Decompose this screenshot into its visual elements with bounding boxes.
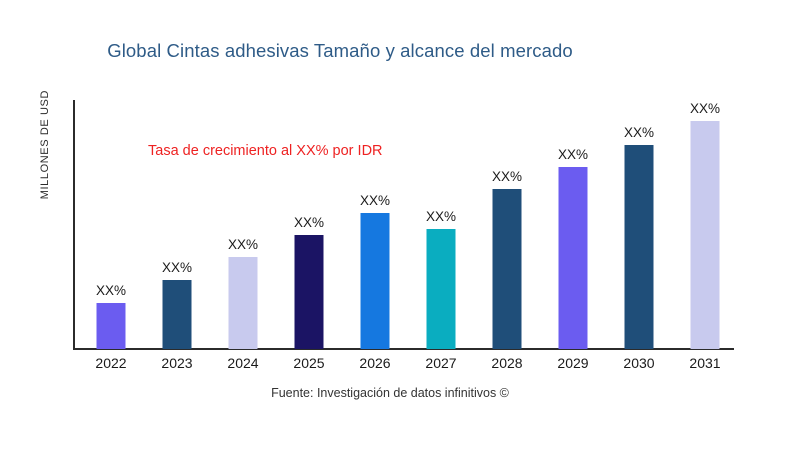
x-tick-2023: 2023 xyxy=(144,355,210,371)
y-axis-title-wrapper: MILLONES DE USD xyxy=(22,90,44,320)
bar-2028[interactable] xyxy=(493,189,522,349)
bar-group-2022[interactable]: XX% xyxy=(78,100,144,350)
chart-title: Global Cintas adhesivas Tamaño y alcance… xyxy=(0,40,680,62)
bar-group-2026[interactable]: XX% xyxy=(342,100,408,350)
x-tick-2027: 2027 xyxy=(408,355,474,371)
bar-value-label-2028: XX% xyxy=(492,169,522,184)
source-note: Fuente: Investigación de datos infinitiv… xyxy=(0,386,780,400)
bar-value-label-2024: XX% xyxy=(228,237,258,252)
bar-group-2024[interactable]: XX% xyxy=(210,100,276,350)
x-tick-2029: 2029 xyxy=(540,355,606,371)
bar-value-label-2025: XX% xyxy=(294,215,324,230)
bar-2030[interactable] xyxy=(625,145,654,349)
bar-2027[interactable] xyxy=(427,229,456,349)
bar-value-label-2022: XX% xyxy=(96,283,126,298)
bar-group-2023[interactable]: XX% xyxy=(144,100,210,350)
bar-group-2030[interactable]: XX% xyxy=(606,100,672,350)
bar-chart: Global Cintas adhesivas Tamaño y alcance… xyxy=(0,0,800,450)
bar-group-2025[interactable]: XX% xyxy=(276,100,342,350)
bar-2026[interactable] xyxy=(361,213,390,349)
bar-value-label-2031: XX% xyxy=(690,101,720,116)
bar-group-2031[interactable]: XX% xyxy=(672,100,738,350)
bar-value-label-2029: XX% xyxy=(558,147,588,162)
bar-value-label-2023: XX% xyxy=(162,260,192,275)
bar-2023[interactable] xyxy=(163,280,192,349)
bar-2024[interactable] xyxy=(229,257,258,349)
bar-group-2029[interactable]: XX% xyxy=(540,100,606,350)
x-tick-2022: 2022 xyxy=(78,355,144,371)
bar-value-label-2027: XX% xyxy=(426,209,456,224)
bar-value-label-2030: XX% xyxy=(624,125,654,140)
x-tick-2024: 2024 xyxy=(210,355,276,371)
x-tick-2025: 2025 xyxy=(276,355,342,371)
x-tick-2026: 2026 xyxy=(342,355,408,371)
bar-group-2027[interactable]: XX% xyxy=(408,100,474,350)
plot-area: XX%XX%XX%XX%XX%XX%XX%XX%XX%XX% xyxy=(73,100,800,350)
bars-layer: XX%XX%XX%XX%XX%XX%XX%XX%XX%XX% xyxy=(73,100,800,350)
y-axis-title: MILLONES DE USD xyxy=(39,90,51,199)
bar-2029[interactable] xyxy=(559,167,588,349)
bar-group-2028[interactable]: XX% xyxy=(474,100,540,350)
bar-2022[interactable] xyxy=(97,303,126,349)
growth-rate-annotation: Tasa de crecimiento al XX% por IDR xyxy=(148,143,383,159)
bar-2025[interactable] xyxy=(295,235,324,349)
x-axis-tick-labels: 2022202320242025202620272028202920302031 xyxy=(73,355,800,379)
x-tick-2028: 2028 xyxy=(474,355,540,371)
x-tick-2031: 2031 xyxy=(672,355,738,371)
bar-value-label-2026: XX% xyxy=(360,193,390,208)
x-tick-2030: 2030 xyxy=(606,355,672,371)
bar-2031[interactable] xyxy=(691,121,720,349)
